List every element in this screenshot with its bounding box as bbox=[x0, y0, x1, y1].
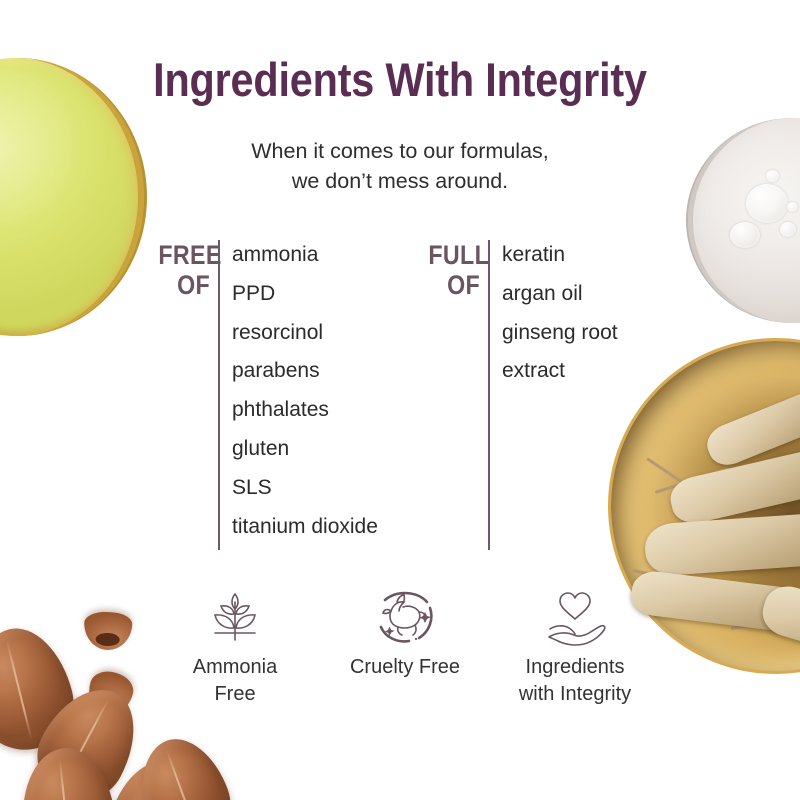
ingredient-columns: FREE OF ammonia PPD resorcinol parabens … bbox=[150, 236, 670, 552]
badge-cruelty-free-label: Cruelty Free bbox=[320, 654, 490, 681]
badge-row: Ammonia Free bbox=[150, 580, 670, 730]
list-item: titanium dioxide bbox=[232, 508, 378, 547]
badge-label-line-1: Ammonia bbox=[150, 654, 320, 681]
list-item: PPD bbox=[232, 275, 378, 314]
ginseng-tendril bbox=[731, 611, 800, 630]
gel-bubble bbox=[780, 222, 796, 237]
badge-label-line-1: Ingredients bbox=[490, 654, 660, 681]
list-item: resorcinol bbox=[232, 314, 378, 353]
full-of-label-line-2: OF bbox=[428, 270, 480, 300]
free-of-label-line-2: OF bbox=[158, 270, 210, 300]
gel-bubble bbox=[730, 222, 760, 248]
argan-shell-fragment bbox=[83, 667, 137, 721]
list-item: ginseng root bbox=[502, 314, 618, 353]
ginseng-root bbox=[702, 371, 800, 471]
badge-label-line-2: with Integrity bbox=[490, 681, 660, 708]
list-item: phthalates bbox=[232, 391, 378, 430]
free-of-label-line-1: FREE bbox=[158, 240, 210, 270]
leaping-bunny-icon bbox=[320, 580, 490, 654]
plant-sprout-icon bbox=[150, 580, 320, 654]
argan-shell-fragment bbox=[83, 611, 132, 651]
free-of-label: FREE OF bbox=[158, 240, 210, 300]
badge-label-line-2: Free bbox=[150, 681, 320, 708]
full-of-list: keratin argan oil ginseng root extract bbox=[502, 236, 618, 391]
list-item: gluten bbox=[232, 430, 378, 469]
badge-ammonia-free: Ammonia Free bbox=[150, 580, 320, 708]
argan-nut bbox=[22, 672, 154, 800]
full-of-column: FULL OF keratin argan oil ginseng root e… bbox=[420, 236, 670, 552]
list-item: parabens bbox=[232, 352, 378, 391]
list-item: keratin bbox=[502, 236, 618, 275]
ingredients-with-integrity-panel: Ingredients With Integrity When it comes… bbox=[0, 0, 800, 800]
list-item: SLS bbox=[232, 469, 378, 508]
list-item: argan oil bbox=[502, 275, 618, 314]
hand-heart-icon bbox=[490, 580, 660, 654]
argan-nut bbox=[126, 727, 242, 800]
page-subtitle: When it comes to our formulas, we don’t … bbox=[0, 136, 800, 196]
gel-bubble bbox=[787, 202, 798, 212]
free-of-column: FREE OF ammonia PPD resorcinol parabens … bbox=[150, 236, 440, 552]
badge-label-line-1: Cruelty Free bbox=[320, 654, 490, 681]
badge-ingredients-with-integrity-label: Ingredients with Integrity bbox=[490, 654, 660, 708]
argan-nut bbox=[100, 751, 211, 800]
badge-cruelty-free: Cruelty Free bbox=[320, 580, 490, 681]
argan-nut bbox=[0, 618, 83, 760]
full-of-label: FULL OF bbox=[428, 240, 480, 300]
free-of-list: ammonia PPD resorcinol parabens phthalat… bbox=[232, 236, 378, 546]
ginseng-tendril bbox=[788, 372, 800, 430]
full-of-divider bbox=[488, 240, 490, 550]
ginseng-root bbox=[757, 581, 800, 676]
subtitle-line-1: When it comes to our formulas, bbox=[0, 136, 800, 166]
argan-nut bbox=[16, 744, 120, 800]
list-item: ammonia bbox=[232, 236, 378, 275]
page-title: Ingredients With Integrity bbox=[48, 52, 752, 107]
free-of-divider bbox=[218, 240, 220, 550]
ginseng-root bbox=[666, 436, 800, 528]
subtitle-line-2: we don’t mess around. bbox=[0, 166, 800, 196]
full-of-label-line-1: FULL bbox=[428, 240, 480, 270]
list-item: extract bbox=[502, 352, 618, 391]
badge-ingredients-with-integrity: Ingredients with Integrity bbox=[490, 580, 660, 708]
badge-ammonia-free-label: Ammonia Free bbox=[150, 654, 320, 708]
